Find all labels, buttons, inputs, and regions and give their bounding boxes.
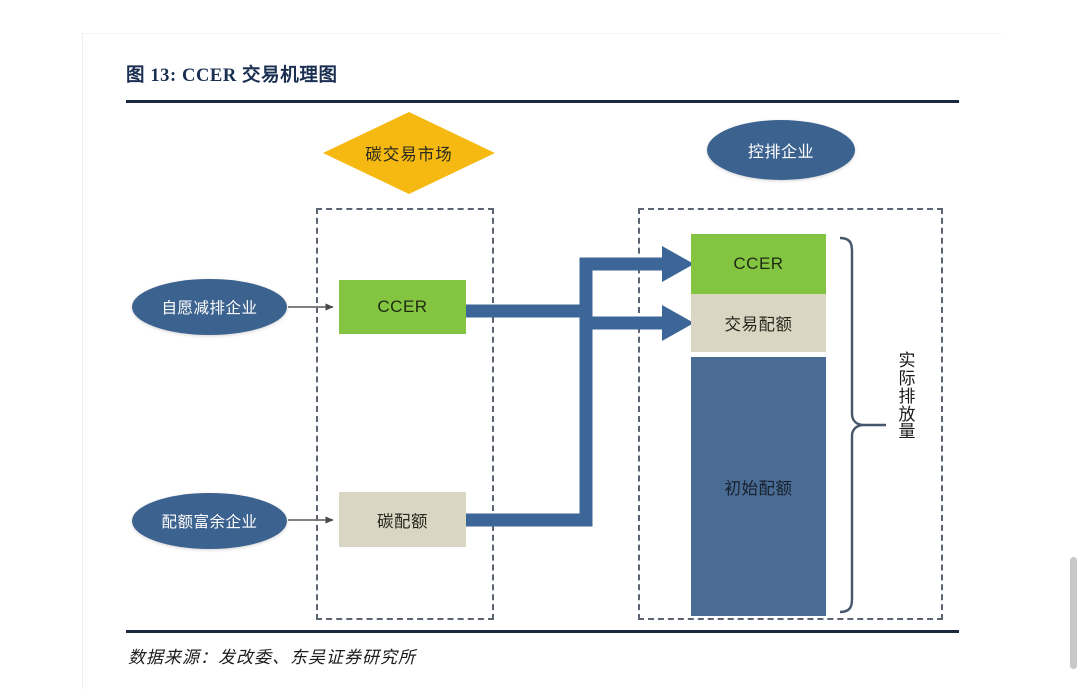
node-voluntary-reduction-firm[interactable]: 自愿减排企业: [132, 279, 287, 335]
screenshot-root: 图 13: CCER 交易机理图 数据来源：发改委、东吴证券研究所: [0, 0, 1080, 689]
node-initial-quota[interactable]: 初始配额: [691, 357, 826, 616]
node-traded-quota[interactable]: 交易配额: [691, 294, 826, 352]
node-voluntary-reduction-firm-label: 自愿减排企业: [161, 296, 257, 318]
actual-emission-label: 实 际 排 放 量: [893, 352, 921, 441]
node-quota-surplus-firm[interactable]: 配额富余企业: [132, 493, 287, 549]
node-ccer-held[interactable]: CCER: [691, 234, 826, 294]
vertical-scrollbar-thumb[interactable]: [1070, 557, 1077, 669]
figure-source-note: 数据来源：发改委、东吴证券研究所: [128, 643, 416, 668]
title-divider-rule: [126, 100, 959, 103]
node-controlled-emission-firm[interactable]: 控排企业: [707, 120, 855, 180]
carbon-trading-market-label: 碳交易市场: [323, 112, 495, 194]
actual-emission-char-1: 实: [893, 352, 921, 370]
node-initial-quota-label: 初始配额: [725, 475, 793, 499]
node-ccer-supply[interactable]: CCER: [339, 280, 466, 334]
actual-emission-char-5: 量: [893, 423, 921, 441]
carbon-trading-market-diamond[interactable]: 碳交易市场: [323, 112, 495, 194]
node-traded-quota-label: 交易配额: [725, 311, 793, 335]
node-ccer-held-label: CCER: [733, 254, 783, 274]
node-carbon-quota-supply[interactable]: 碳配额: [339, 492, 466, 547]
actual-emission-char-3: 排: [893, 388, 921, 406]
figure-title: 图 13: CCER 交易机理图: [126, 61, 338, 87]
carbon-trading-market-region: [316, 208, 494, 620]
node-carbon-quota-supply-label: 碳配额: [377, 508, 428, 532]
actual-emission-char-4: 放: [893, 406, 921, 424]
node-controlled-emission-firm-label: 控排企业: [748, 138, 814, 162]
node-quota-surplus-firm-label: 配额富余企业: [161, 510, 257, 532]
actual-emission-char-2: 际: [893, 370, 921, 388]
footer-divider-rule: [126, 630, 959, 633]
vertical-scrollbar[interactable]: [1067, 0, 1080, 689]
node-ccer-supply-label: CCER: [377, 297, 427, 317]
